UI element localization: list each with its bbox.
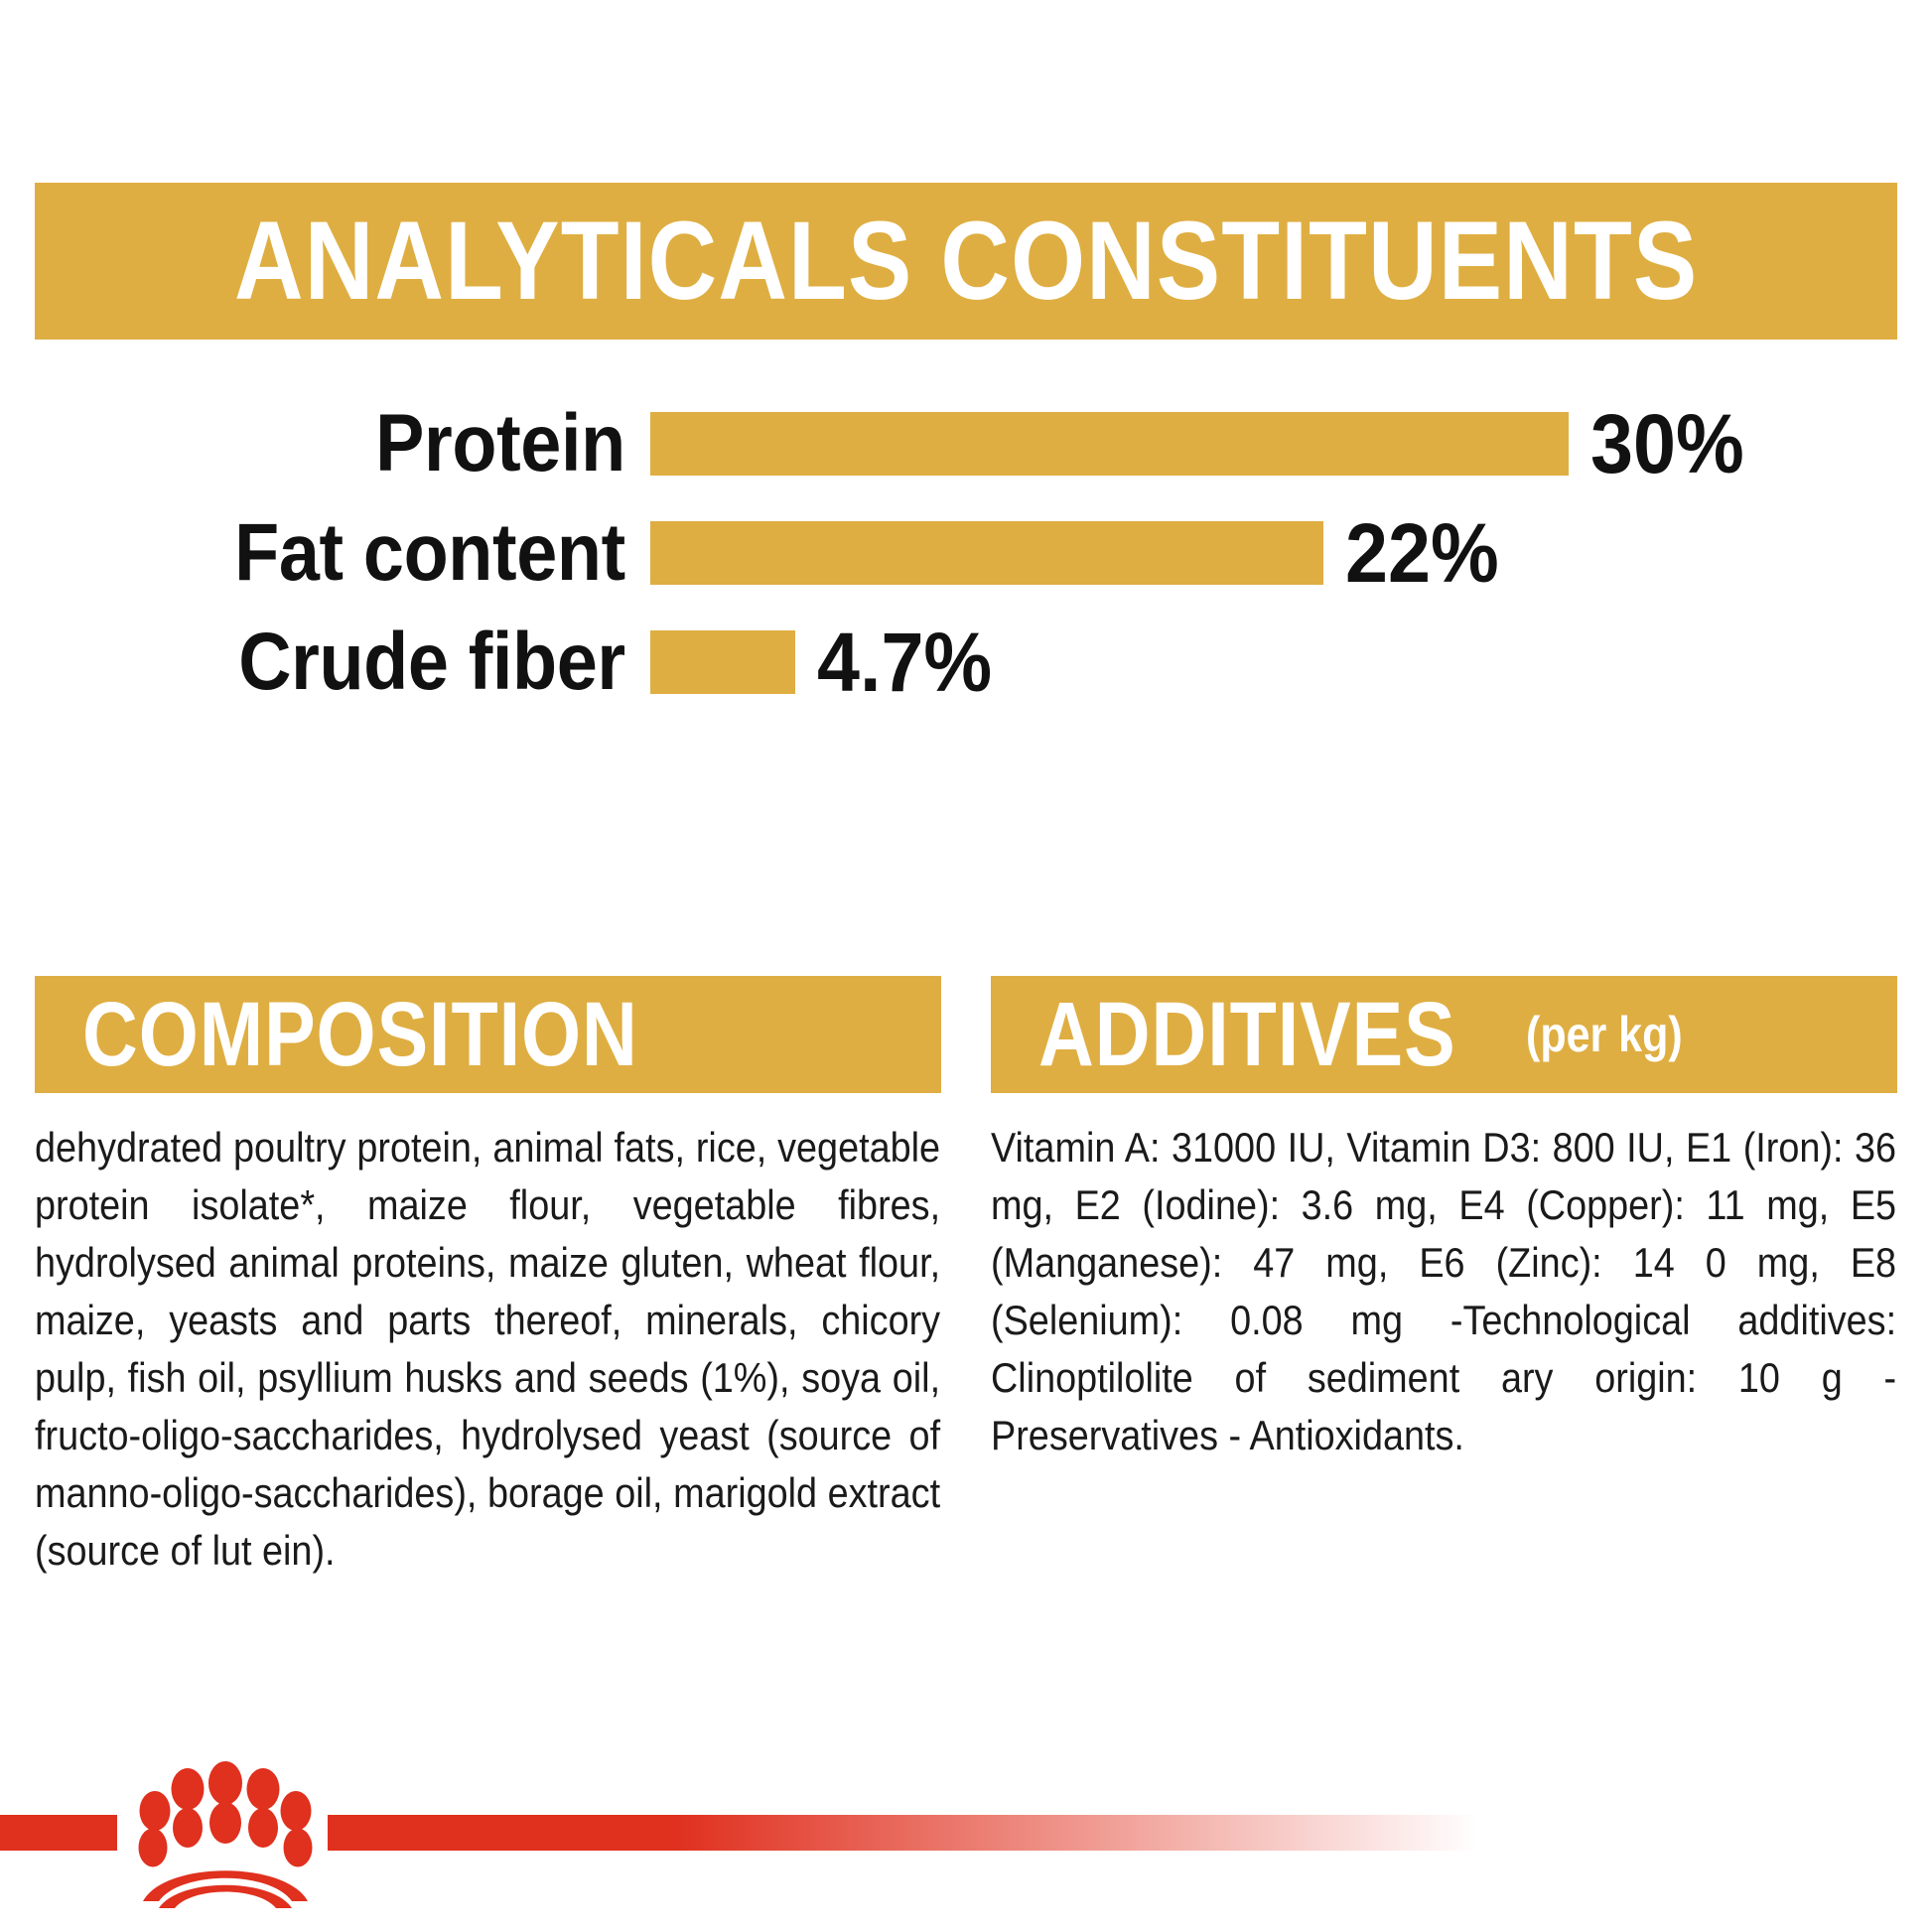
footer — [0, 1737, 1932, 1932]
analyticals-bar-chart: Protein 30% Fat content 22% Crude fiber … — [35, 389, 1897, 717]
additives-banner-title: ADDITIVES — [1038, 989, 1456, 1080]
info-panels: COMPOSITION dehydrated poultry protein, … — [35, 976, 1897, 1580]
royal-canin-crown-paw-logo — [131, 1761, 320, 1908]
composition-panel: COMPOSITION dehydrated poultry protein, … — [35, 976, 941, 1580]
additives-body-text: Vitamin A: 31000 IU, Vitamin D3: 800 IU,… — [991, 1119, 1896, 1464]
chart-bar-wrap-crude-fiber: 4.7% — [650, 621, 1897, 704]
footer-rule-left — [0, 1815, 117, 1851]
additives-panel: ADDITIVES (per kg) Vitamin A: 31000 IU, … — [991, 976, 1897, 1580]
analyticals-constituents-banner: ANALYTICALS CONSTITUENTS — [35, 183, 1897, 340]
chart-value-fat-content: 22% — [1345, 511, 1499, 595]
chart-row-crude-fiber: Crude fiber 4.7% — [35, 608, 1897, 717]
composition-banner: COMPOSITION — [35, 976, 941, 1093]
footer-rule-right — [328, 1815, 1479, 1851]
chart-bar-wrap-fat-content: 22% — [650, 511, 1897, 595]
chart-bar-protein — [650, 412, 1569, 476]
chart-value-protein: 30% — [1590, 402, 1744, 485]
chart-bar-wrap-protein: 30% — [650, 402, 1897, 485]
chart-label-crude-fiber: Crude fiber — [96, 621, 650, 703]
composition-body-text: dehydrated poultry protein, animal fats,… — [35, 1119, 940, 1580]
chart-row-protein: Protein 30% — [35, 389, 1897, 498]
additives-banner: ADDITIVES (per kg) — [991, 976, 1897, 1093]
chart-row-fat-content: Fat content 22% — [35, 498, 1897, 608]
chart-label-protein: Protein — [96, 403, 650, 484]
chart-value-crude-fiber: 4.7% — [817, 621, 992, 704]
additives-banner-subtitle: (per kg) — [1526, 1010, 1683, 1059]
composition-banner-title: COMPOSITION — [82, 989, 638, 1080]
chart-label-fat-content: Fat content — [96, 512, 650, 594]
chart-bar-crude-fiber — [650, 630, 795, 694]
chart-bar-fat-content — [650, 521, 1323, 585]
analyticals-banner-title: ANALYTICALS CONSTITUENTS — [234, 206, 1698, 317]
